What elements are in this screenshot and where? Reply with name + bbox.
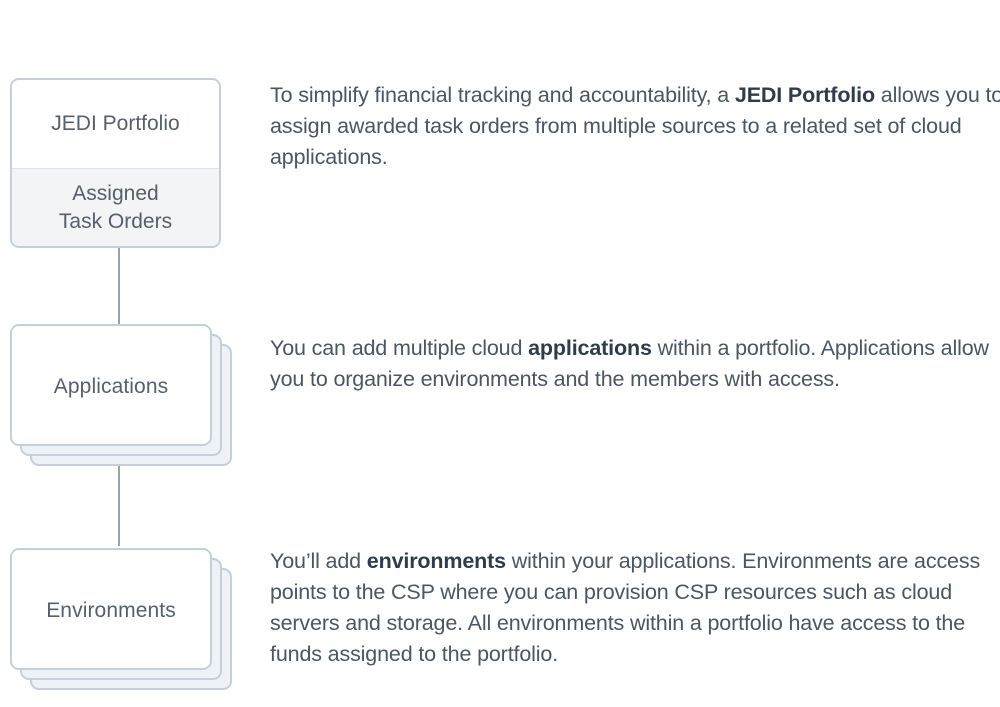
environments-card[interactable]: Environments: [10, 548, 212, 670]
portfolio-description: To simplify financial tracking and accou…: [270, 80, 1000, 173]
environments-description-lead: You’ll add: [270, 549, 367, 573]
portfolio-description-lead: To simplify financial tracking and accou…: [270, 83, 735, 107]
environments-card-title: Environments: [12, 597, 210, 624]
portfolio-card-header: JEDI Portfolio: [12, 80, 219, 168]
portfolio-card-subsection: Assigned Task Orders: [12, 169, 219, 246]
portfolio-card-title: JEDI Portfolio: [51, 110, 179, 138]
environments-description: You’ll add environments within your appl…: [270, 546, 1000, 670]
applications-card-title: Applications: [12, 373, 210, 400]
portfolio-description-emphasis: JEDI Portfolio: [735, 83, 875, 107]
diagram-canvas: JEDI Portfolio Assigned Task Orders Appl…: [0, 0, 1000, 707]
portfolio-card-subtitle: Assigned Task Orders: [59, 180, 172, 236]
applications-card[interactable]: Applications: [10, 324, 212, 446]
environments-description-emphasis: environments: [367, 549, 506, 573]
connector-applications-to-environments: [118, 466, 120, 546]
applications-description: You can add multiple cloud applications …: [270, 333, 1000, 395]
applications-description-lead: You can add multiple cloud: [270, 336, 528, 360]
portfolio-card[interactable]: JEDI Portfolio Assigned Task Orders: [10, 78, 221, 248]
applications-description-emphasis: applications: [528, 336, 652, 360]
connector-portfolio-to-applications: [118, 248, 120, 326]
